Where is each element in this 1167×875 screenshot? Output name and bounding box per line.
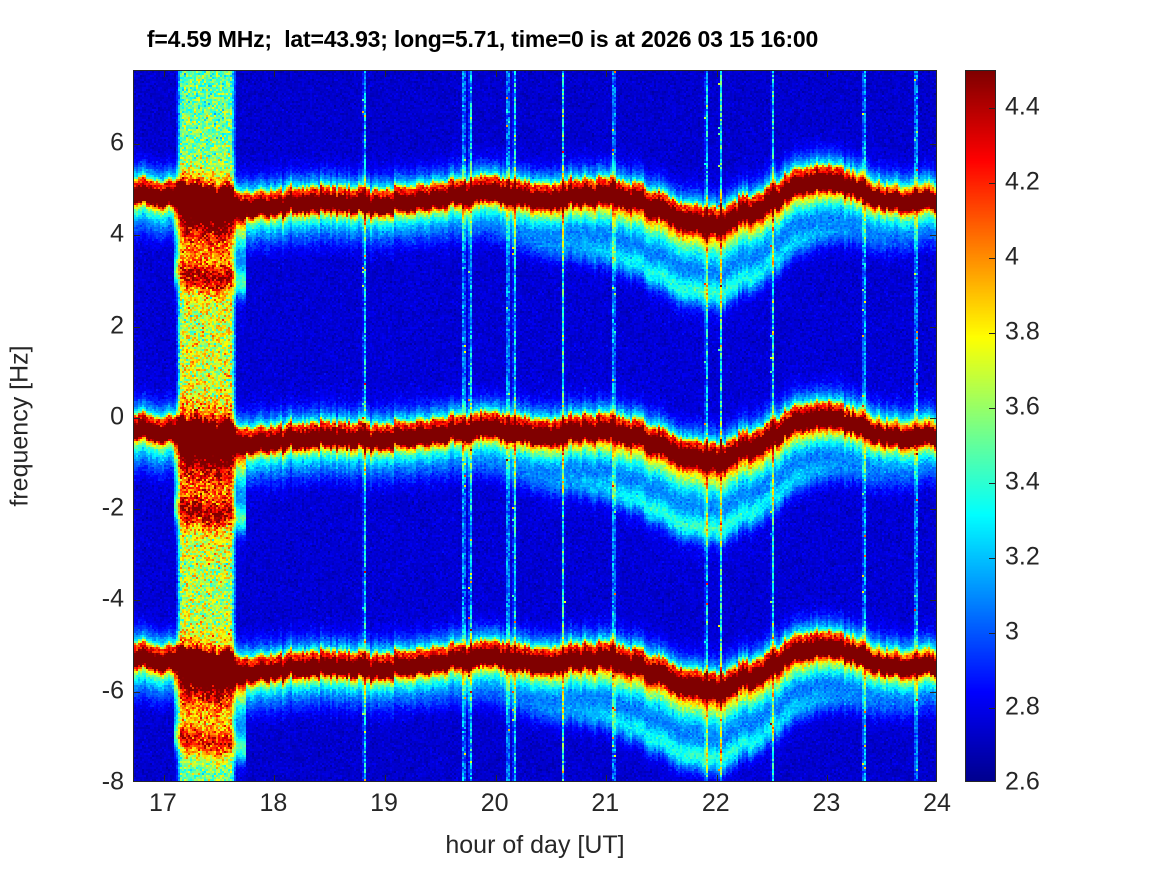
y-axis-tick [930, 509, 936, 510]
colorbar-tick [989, 558, 995, 559]
y-axis-label-container: frequency [Hz] [0, 0, 40, 875]
page-title: f=4.59 MHz; lat=43.93; long=5.71, time=0… [0, 26, 965, 53]
y-axis-tick [134, 144, 140, 145]
x-axis-tick [606, 71, 607, 77]
x-axis-tick [385, 775, 386, 781]
y-axis-tick [930, 235, 936, 236]
x-axis-tick [274, 775, 275, 781]
x-axis-tick [164, 775, 165, 781]
colorbar [965, 70, 996, 782]
y-axis-tick-label: 6 [110, 129, 124, 158]
colorbar-tick-label: 3.2 [1005, 543, 1040, 572]
y-axis-tick [930, 144, 936, 145]
x-axis-tick-label: 23 [813, 789, 841, 818]
colorbar-tick [989, 333, 995, 334]
x-axis-tick [717, 71, 718, 77]
y-axis-tick [134, 235, 140, 236]
y-axis-tick [134, 600, 140, 601]
x-axis-tick-label: 19 [370, 789, 398, 818]
y-axis-tick [930, 692, 936, 693]
colorbar-tick [989, 408, 995, 409]
y-axis-tick-label: -6 [102, 676, 124, 705]
colorbar-gradient [966, 71, 995, 781]
x-axis-tick [496, 71, 497, 77]
colorbar-tick-label: 4.2 [1005, 168, 1040, 197]
x-axis-tick [385, 71, 386, 77]
colorbar-tick-label: 4 [1005, 243, 1019, 272]
x-axis-tick [496, 775, 497, 781]
y-axis-tick-label: -4 [102, 585, 124, 614]
x-axis-tick-label: 21 [591, 789, 619, 818]
colorbar-tick [989, 258, 995, 259]
y-axis-tick [134, 509, 140, 510]
colorbar-tick-label: 3 [1005, 618, 1019, 647]
x-axis-tick [274, 71, 275, 77]
x-axis-tick [164, 71, 165, 77]
y-axis-tick [930, 418, 936, 419]
x-axis-tick-label: 22 [702, 789, 730, 818]
x-axis-tick [606, 775, 607, 781]
colorbar-tick [989, 633, 995, 634]
colorbar-tick-label: 3.8 [1005, 318, 1040, 347]
x-axis-tick-label: 17 [149, 789, 177, 818]
y-axis-label: frequency [Hz] [6, 345, 35, 506]
x-axis-tick-label: 20 [481, 789, 509, 818]
colorbar-tick-label: 4.4 [1005, 93, 1040, 122]
x-axis-label: hour of day [UT] [133, 831, 937, 860]
y-axis-tick-label: -8 [102, 768, 124, 797]
spectrogram-heatmap [134, 71, 936, 781]
y-axis-tick [134, 418, 140, 419]
y-axis-tick-label: 0 [110, 402, 124, 431]
x-axis-tick [717, 775, 718, 781]
y-axis-tick-label: 4 [110, 220, 124, 249]
colorbar-tick-label: 3.4 [1005, 468, 1040, 497]
y-axis-tick-label: 2 [110, 311, 124, 340]
colorbar-tick [989, 708, 995, 709]
colorbar-tick-label: 3.6 [1005, 393, 1040, 422]
plot-axes [133, 70, 937, 782]
x-axis-tick-label: 18 [260, 789, 288, 818]
y-axis-tick-label: -2 [102, 494, 124, 523]
x-axis-tick [827, 775, 828, 781]
colorbar-tick [989, 108, 995, 109]
y-axis-tick [930, 600, 936, 601]
colorbar-tick [989, 183, 995, 184]
colorbar-tick [989, 483, 995, 484]
colorbar-tick-label: 2.8 [1005, 693, 1040, 722]
y-axis-tick [134, 327, 140, 328]
y-axis-tick [930, 327, 936, 328]
y-axis-tick [134, 692, 140, 693]
x-axis-tick-label: 24 [923, 789, 951, 818]
colorbar-tick-label: 2.6 [1005, 768, 1040, 797]
x-axis-tick [827, 71, 828, 77]
